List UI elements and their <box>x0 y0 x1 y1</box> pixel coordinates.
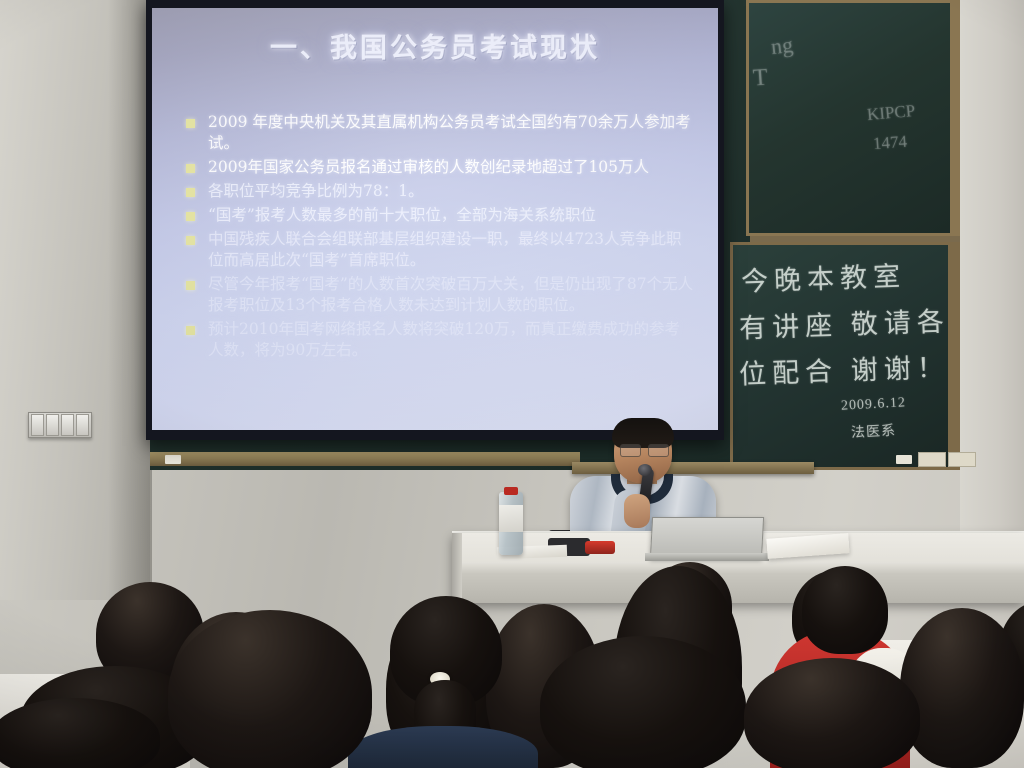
chalk-stick[interactable] <box>896 455 912 464</box>
bullet-square-icon <box>186 281 195 290</box>
microphone-head-icon <box>638 464 652 476</box>
slide-bullet-item: 2009年国家公务员报名通过审核的人数创纪录地超过了105万人 <box>182 157 694 178</box>
chalk-scribble-2: T <box>752 65 769 93</box>
chalk-scribble-3: KIPCP <box>866 101 916 125</box>
light-switch-key[interactable] <box>46 414 59 436</box>
chalk-scribble-1: ng <box>770 32 795 60</box>
bullet-square-icon <box>186 236 195 245</box>
light-switch-key[interactable] <box>76 414 89 436</box>
blackboard-eraser[interactable] <box>918 452 946 467</box>
light-switch-key[interactable] <box>61 414 74 436</box>
speaker-hand <box>624 494 650 528</box>
speaker-glasses-right-lens <box>648 444 669 457</box>
blackboard-lower-panel: 今晚本教室 有讲座 敬请各 位配合 谢谢！ 2009.6.12 法医系 <box>730 242 960 470</box>
water-bottle-label <box>499 505 523 532</box>
light-switch-key[interactable] <box>31 414 44 436</box>
audience-shoulders <box>348 726 538 768</box>
projection-screen: 一、我国公务员考试现状 2009 年度中央机关及其直属机构公务员考试全国约有70… <box>146 0 724 440</box>
bullet-square-icon <box>186 212 195 221</box>
blackboard-eraser[interactable] <box>948 452 976 467</box>
bullet-square-icon <box>186 164 195 173</box>
speaker-glasses-left-lens <box>620 444 641 457</box>
bullet-text: 各职位平均竞争比例为78：1。 <box>208 182 424 200</box>
blackboard-signature: 法医系 <box>851 420 897 442</box>
slide-title: 一、我国公务员考试现状 <box>152 26 718 65</box>
presentation-slide: 一、我国公务员考试现状 2009 年度中央机关及其直属机构公务员考试全国约有70… <box>152 8 718 430</box>
slide-bullet-item: 2009 年度中央机关及其直属机构公务员考试全国约有70余万人参加考试。 <box>182 112 694 154</box>
audience-head <box>168 610 372 768</box>
bullet-text: 中国残疾人联合会组联部基层组织建设一职，最终以4723人竞争此职位而高居此次“国… <box>208 230 681 269</box>
lecture-hall-photo: ng T KIPCP 1474 今晚本教室 有讲座 敬请各 位配合 谢谢！ 20… <box>0 0 1024 768</box>
bullet-text: 2009年国家公务员报名通过审核的人数创纪录地超过了105万人 <box>208 158 649 176</box>
slide-bullet-list: 2009 年度中央机关及其直属机构公务员考试全国约有70余万人参加考试。 200… <box>182 112 694 364</box>
slide-bullet-item: 各职位平均竞争比例为78：1。 <box>182 181 694 202</box>
audience-head <box>802 566 888 654</box>
audience-head <box>744 658 920 768</box>
bullet-square-icon <box>186 326 195 335</box>
slide-bullet-item: 中国残疾人联合会组联部基层组织建设一职，最终以4723人竞争此职位而高居此次“国… <box>182 229 694 271</box>
audience-head <box>900 608 1024 768</box>
bullet-square-icon <box>186 119 195 128</box>
audience-head <box>540 636 746 768</box>
slide-bullet-item: 尽管今年报考“国考”的人数首次突破百万大关，但是仍出现了87个无人报考职位及13… <box>182 274 694 316</box>
chalk-stick[interactable] <box>165 455 181 464</box>
bullet-text: “国考”报考人数最多的前十大职位，全部为海关系统职位 <box>208 206 596 224</box>
water-bottle-cap[interactable] <box>504 487 518 495</box>
right-wall <box>960 0 1024 600</box>
audience-area <box>0 548 1024 768</box>
blackboard-upper-panel: ng T KIPCP 1474 <box>746 0 960 236</box>
chalk-scribble-4: 1474 <box>872 132 907 154</box>
slide-bullet-item: “国考”报考人数最多的前十大职位，全部为海关系统职位 <box>182 205 694 226</box>
bullet-square-icon <box>186 188 195 197</box>
chalk-tray-left <box>150 452 580 466</box>
blackboard-line-2: 有讲座 敬请各 <box>738 299 950 345</box>
slide-bullet-item: 预计2010年国考网络报名人数将突破120万，而真正缴费成功的参考人数，将为90… <box>182 319 694 361</box>
bullet-text: 2009 年度中央机关及其直属机构公务员考试全国约有70余万人参加考试。 <box>208 113 691 152</box>
light-switch-panel[interactable] <box>28 412 92 438</box>
bullet-text: 预计2010年国考网络报名人数将突破120万，而真正缴费成功的参考人数，将为90… <box>208 320 680 359</box>
blackboard-line-3: 位配合 谢谢！ <box>738 345 950 391</box>
blackboard-date: 2009.6.12 <box>841 395 907 414</box>
chalk-tray-right <box>572 462 814 474</box>
blackboard-line-1: 今晚本教室 <box>740 254 906 299</box>
bullet-text: 尽管今年报考“国考”的人数首次突破百万大关，但是仍出现了87个无人报考职位及13… <box>208 275 693 314</box>
